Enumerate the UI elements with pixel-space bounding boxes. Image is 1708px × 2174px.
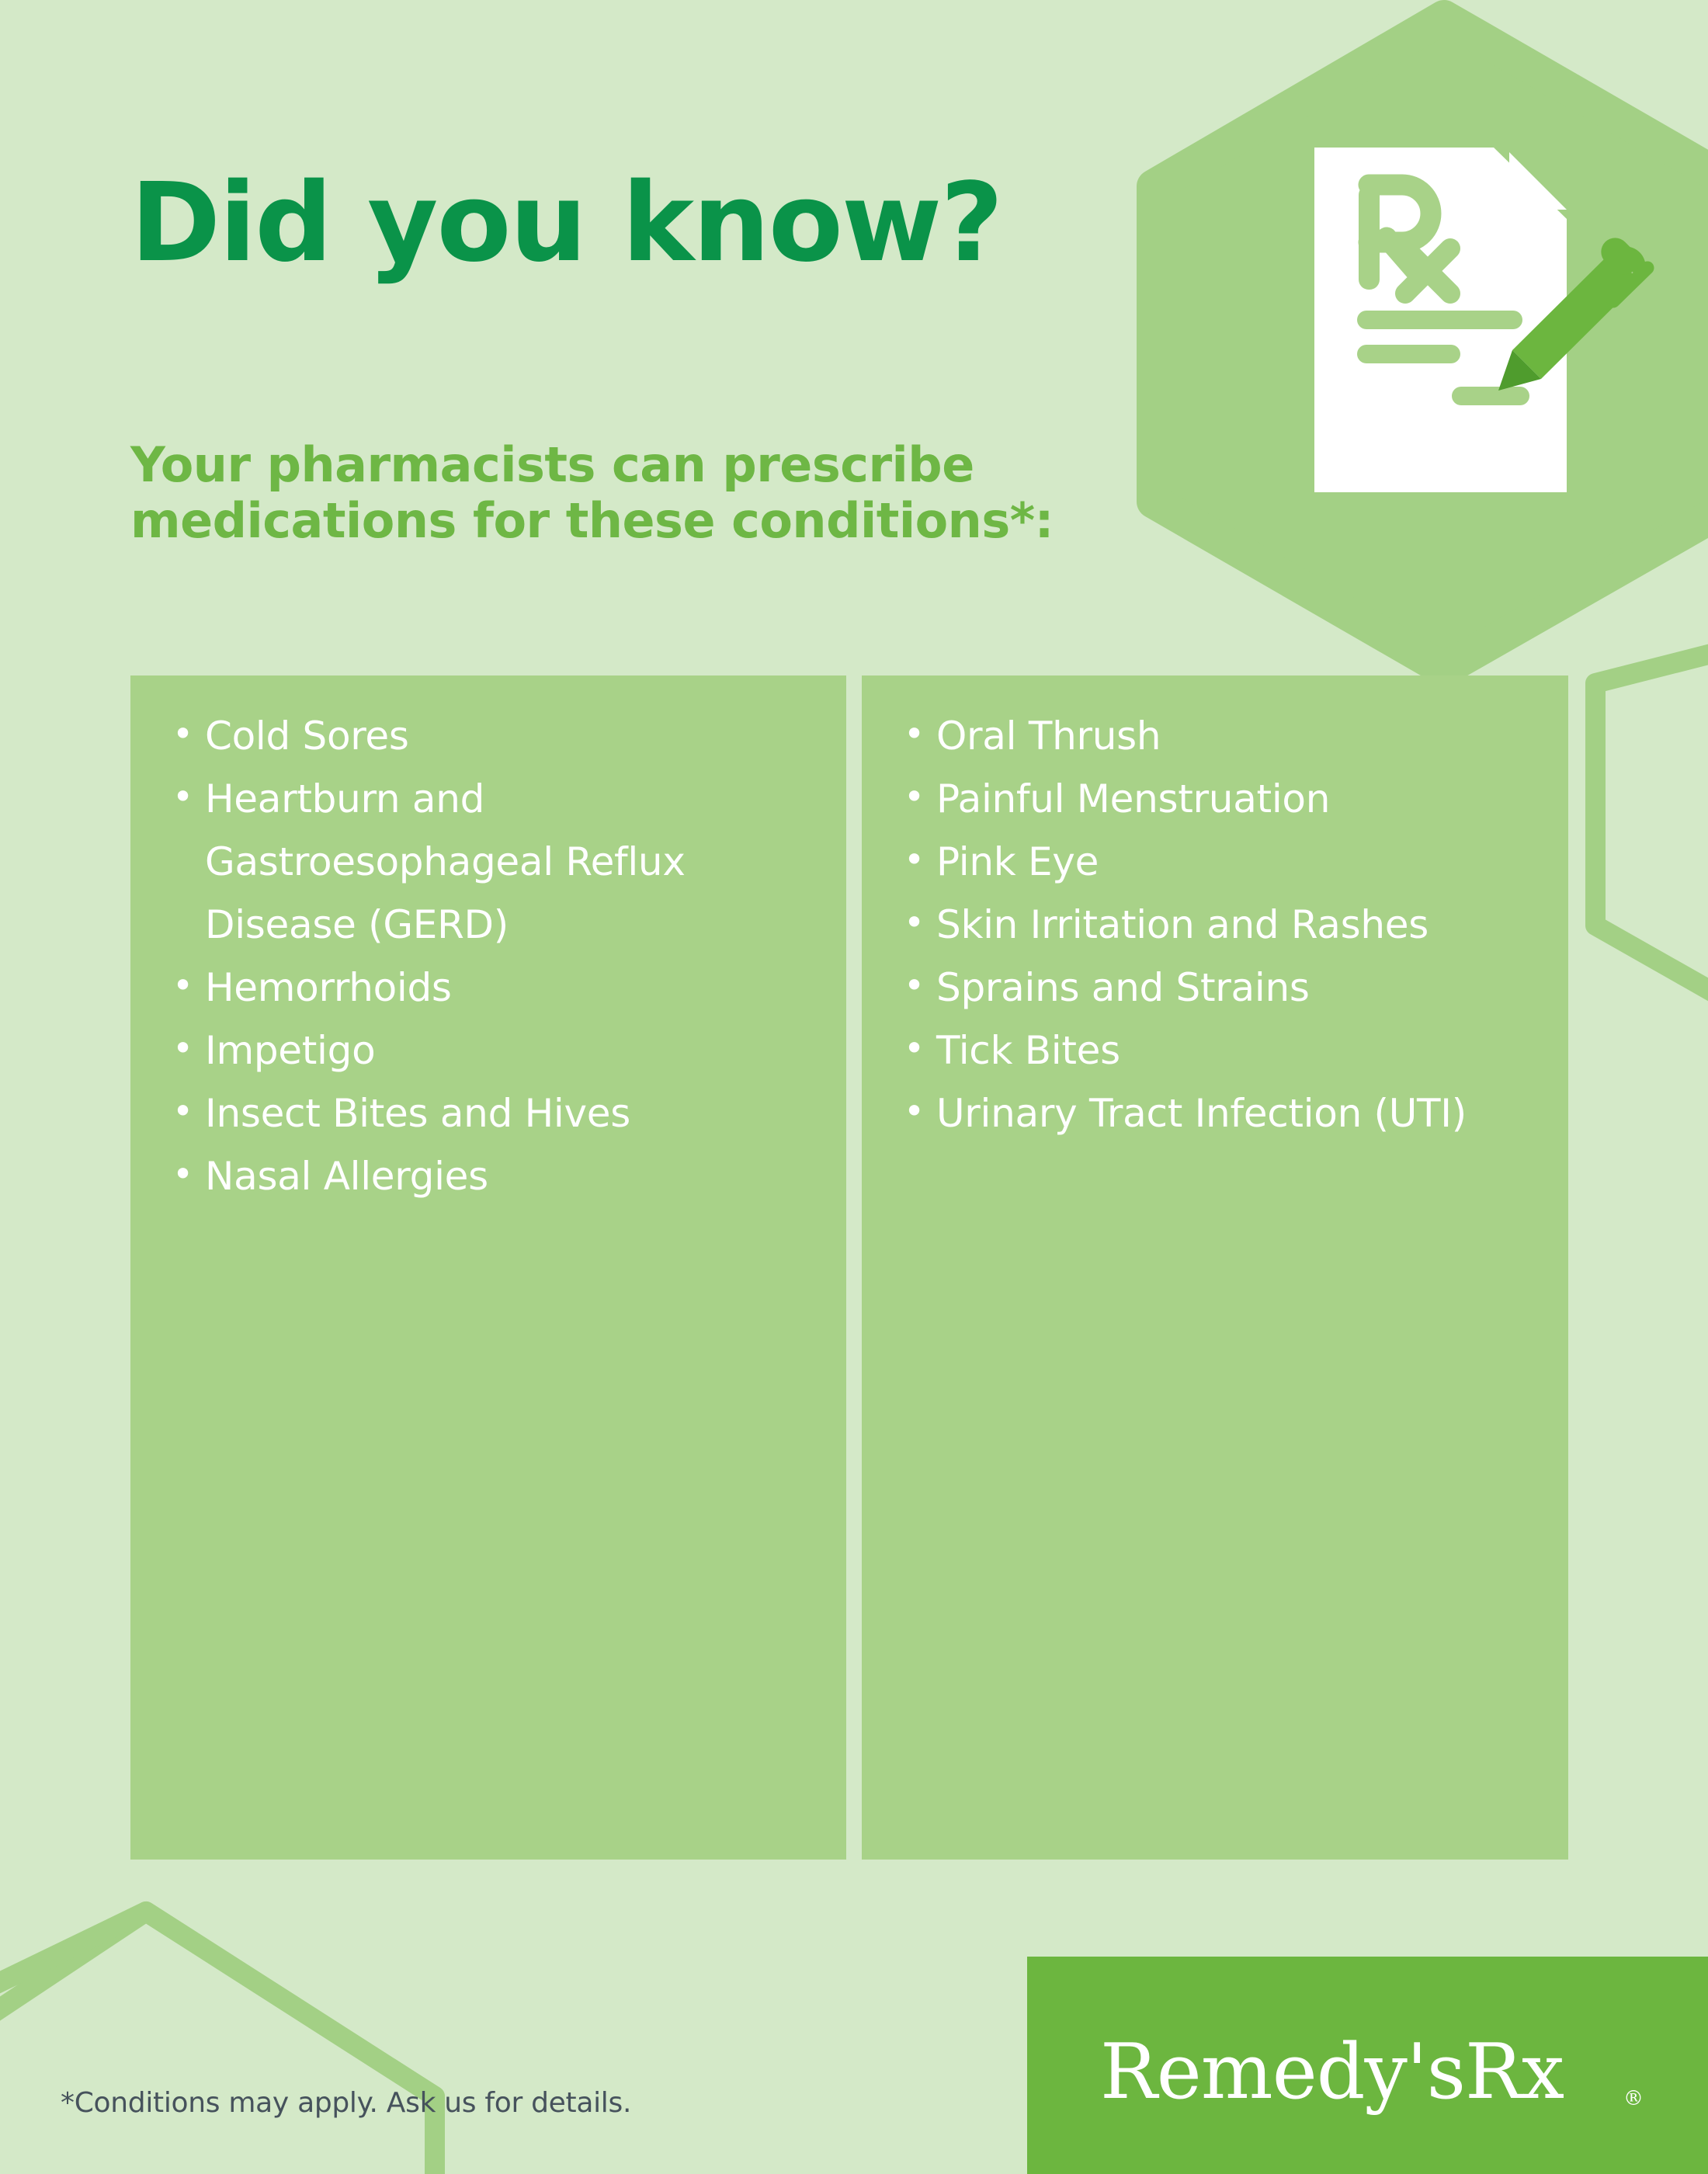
hexagon-outline-bottom-left-b [0,1912,435,2096]
list-item: Impetigo [168,1019,823,1082]
list-item: Urinary Tract Infection (UTI) [899,1082,1545,1145]
registered-trademark-icon: ® [1623,2087,1644,2110]
list-item: Insect Bites and Hives [168,1082,823,1145]
conditions-panel-right: Oral Thrush Painful Menstruation Pink Ey… [862,675,1568,1860]
hexagon-badge-background [1154,17,1708,669]
page-subtitle-line-2: medications for these conditions*: [130,493,1140,549]
rx-symbol-x-stroke-2 [1405,248,1450,293]
page-subtitle-line-1: Your pharmacists can prescribe [130,437,1140,493]
document-signature-line [1452,387,1529,405]
list-item: Sprains and Strains [899,957,1545,1019]
prescription-document-page [1314,148,1567,492]
list-item: Oral Thrush [899,705,1545,768]
list-item: Tick Bites [899,1019,1545,1082]
document-text-line-2 [1357,345,1460,363]
hexagon-outline-right-edge [1595,629,1708,1047]
rx-symbol-r-leg [1387,238,1418,273]
list-item: Pink Eye [899,831,1545,894]
conditions-list-right: Oral Thrush Painful Menstruation Pink Ey… [862,675,1568,1145]
hexagon-outline-bottom-left [0,1912,435,2174]
poster-canvas: Did you know? Your pharmacists can presc… [0,0,1708,2174]
list-item: Nasal Allergies [168,1145,823,1208]
rx-symbol-r-stem [1359,185,1380,290]
list-item: Heartburn and Gastroesophageal Reflux Di… [168,768,823,957]
document-text-line-1 [1357,311,1522,329]
list-item: Cold Sores [168,705,823,768]
pencil-cap-icon [1611,246,1646,281]
brand-logo-block: Remedy'sRx ® [1027,1957,1708,2174]
pencil-ferrule-icon [1613,268,1647,301]
page-title: Did you know? [130,169,1002,278]
list-item: Painful Menstruation [899,768,1545,831]
brand-wordmark: Remedy'sRx [1100,2028,1564,2117]
list-item: Hemorrhoids [168,957,823,1019]
list-item: Skin Irritation and Rashes [899,894,1545,957]
rx-symbol-x-stroke-1 [1405,248,1450,293]
page-subtitle: Your pharmacists can prescribe medicatio… [130,437,1140,549]
pencil-cap-block-icon [1595,232,1644,280]
rx-symbol-r-bowl [1369,185,1431,242]
document-folded-corner-icon [1509,152,1567,210]
footnote-disclaimer: *Conditions may apply. Ask us for detail… [61,2087,631,2119]
pencil-tip-icon [1498,350,1541,391]
pencil-barrel-icon [1512,252,1640,379]
conditions-list-left: Cold Sores Heartburn and Gastroesophagea… [130,675,846,1208]
conditions-panel-left: Cold Sores Heartburn and Gastroesophagea… [130,675,846,1860]
